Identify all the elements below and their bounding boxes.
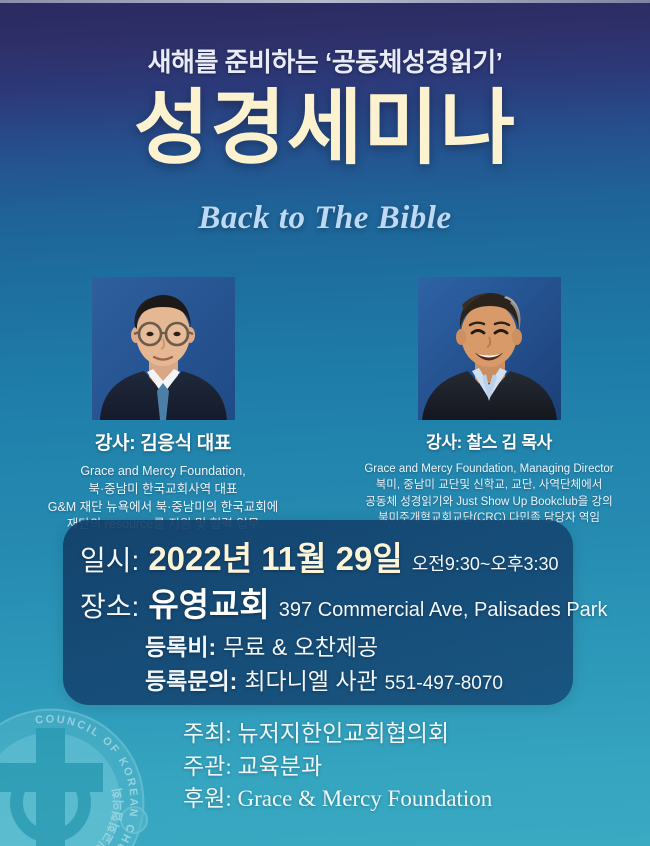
poster-kicker: 새해를 준비하는 ‘공동체성경읽기’: [0, 42, 650, 79]
organizer-manager: 주관: 교육분과: [183, 751, 492, 784]
date-label: 일시:: [80, 539, 139, 579]
event-place-row: 장소: 유영교회 397 Commercial Ave, Palisades P…: [80, 578, 607, 626]
place-address: 397 Commercial Ave, Palisades Park: [279, 599, 608, 622]
top-edge-strip: [0, 0, 650, 3]
contact-name: 최다니엘 사관: [244, 662, 377, 696]
event-contact-row: 등록문의: 최다니엘 사관 551-497-8070: [145, 662, 503, 696]
speaker-bio-line: G&M 재단 뉴욕에서 북·중남미의 한국교회에: [18, 499, 308, 517]
portrait-kim-eung-sik-icon: [92, 277, 235, 420]
speaker-photo-right: [418, 277, 561, 420]
contact-label: 등록문의:: [145, 662, 237, 696]
speaker-bio-line: Grace and Mercy Foundation, Managing Dir…: [344, 461, 634, 477]
fee-label: 등록비:: [145, 628, 216, 662]
place-value: 유영교회: [148, 578, 269, 626]
speaker-bio-line: 공동체 성경읽기와 Just Show Up Bookclub을 강의: [344, 494, 634, 510]
speaker-name-left: 강사: 김응식 대표: [18, 428, 308, 455]
speaker-card-left: 강사: 김응식 대표 Grace and Mercy Foundation, 북…: [18, 277, 308, 534]
celtic-cross-logo-icon: COUNCIL OF KOREAN CHURCHES OF NEW JERSEY…: [0, 700, 153, 846]
speaker-bio-line: Grace and Mercy Foundation,: [18, 463, 308, 481]
portrait-charles-kim-icon: [418, 277, 561, 420]
organizer-list: 주최: 뉴저지한인교회협의회 주관: 교육분과 후원: Grace & Merc…: [183, 718, 492, 816]
speaker-bio-right: Grace and Mercy Foundation, Managing Dir…: [344, 461, 634, 526]
fee-value: 무료 & 오찬제공: [223, 628, 378, 662]
event-details-panel: 일시: 2022년 11월 29일 오전9:30~오후3:30 장소: 유영교회…: [63, 520, 573, 705]
poster-subtitle: Back to The Bible: [0, 200, 650, 237]
event-date-row: 일시: 2022년 11월 29일 오전9:30~오후3:30: [80, 532, 559, 580]
poster-title: 성경세미나: [0, 88, 650, 170]
speaker-card-right: 강사: 찰스 김 목사 Grace and Mercy Foundation, …: [344, 277, 634, 526]
place-label: 장소:: [80, 585, 139, 625]
organizer-host: 주최: 뉴저지한인교회협의회: [183, 718, 492, 751]
speaker-bio-line: 북미, 중남미 교단및 신학교, 교단, 사역단체에서: [344, 477, 634, 493]
seminar-poster: 새해를 준비하는 ‘공동체성경읽기’ 성경세미나 Back to The Bib…: [0, 0, 650, 846]
speaker-name-right: 강사: 찰스 김 목사: [344, 428, 634, 453]
event-fee-row: 등록비: 무료 & 오찬제공: [145, 628, 378, 662]
date-time: 오전9:30~오후3:30: [412, 550, 559, 576]
date-value: 2022년 11월 29일: [148, 532, 402, 580]
ckcnj-logo-watermark: COUNCIL OF KOREAN CHURCHES OF NEW JERSEY…: [0, 700, 153, 846]
contact-phone[interactable]: 551-497-8070: [385, 673, 503, 695]
speaker-photo-left: [92, 277, 235, 420]
speaker-bio-line: 북·중남미 한국교회사역 대표: [18, 481, 308, 499]
organizer-sponsor: 후원: Grace & Mercy Foundation: [183, 783, 492, 816]
